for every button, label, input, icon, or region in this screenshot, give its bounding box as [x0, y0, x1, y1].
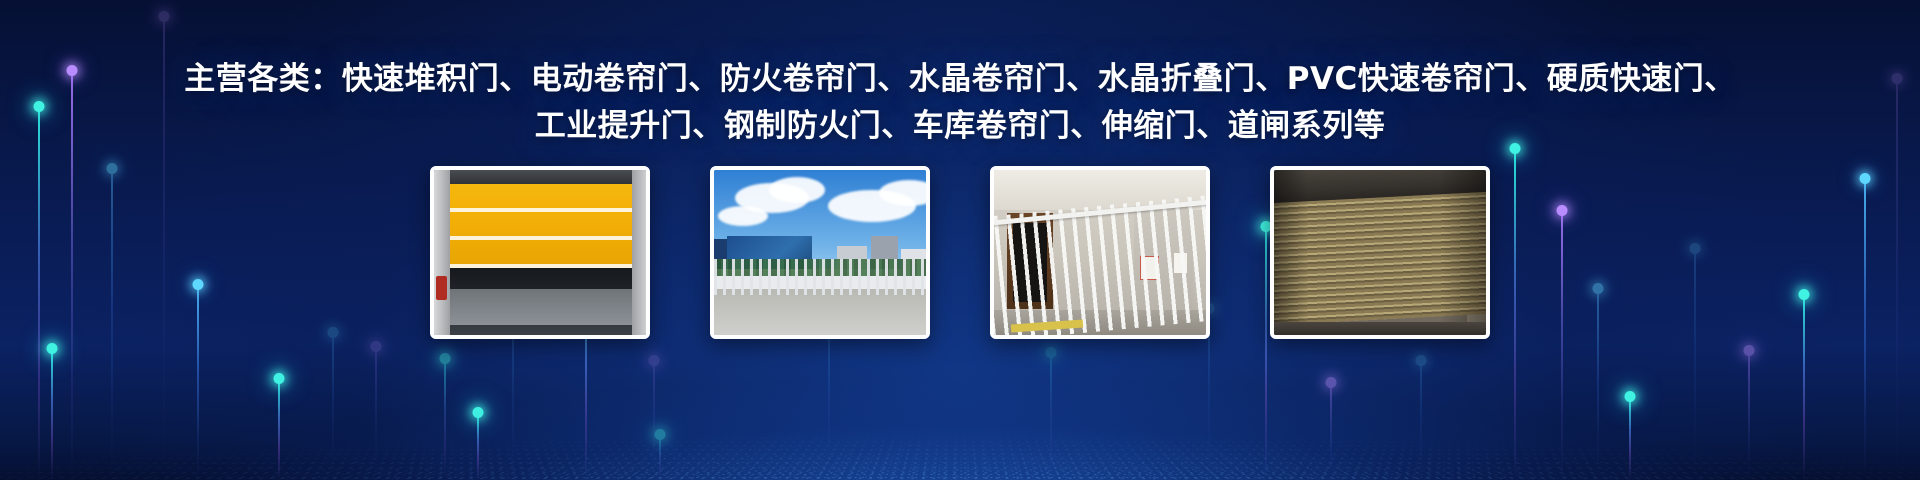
headline-line-2: 工业提升门、钢制防火门、车库卷帘门、伸缩门、道闸系列等 [0, 103, 1920, 150]
product-photo-bronze-roller-shutter[interactable] [1270, 166, 1490, 339]
product-photo-yellow-high-speed-door[interactable] [430, 166, 650, 339]
promo-banner: 主营各类：快速堆积门、电动卷帘门、防火卷帘门、水晶卷帘门、水晶折叠门、PVC快速… [0, 0, 1920, 480]
photo-scene [994, 170, 1206, 335]
dotted-wave-mesh-secondary [0, 429, 1920, 480]
photo-scene [434, 170, 646, 335]
product-photo-indoor-folding-gate[interactable] [990, 166, 1210, 339]
page-title: 主营各类：快速堆积门、电动卷帘门、防火卷帘门、水晶卷帘门、水晶折叠门、PVC快速… [0, 56, 1920, 150]
headline-line-1: 主营各类：快速堆积门、电动卷帘门、防火卷帘门、水晶卷帘门、水晶折叠门、PVC快速… [0, 56, 1920, 103]
photo-scene [1274, 170, 1486, 335]
photo-scene [714, 170, 926, 335]
product-photo-strip [0, 166, 1920, 339]
product-photo-outdoor-retractable-gate[interactable] [710, 166, 930, 339]
